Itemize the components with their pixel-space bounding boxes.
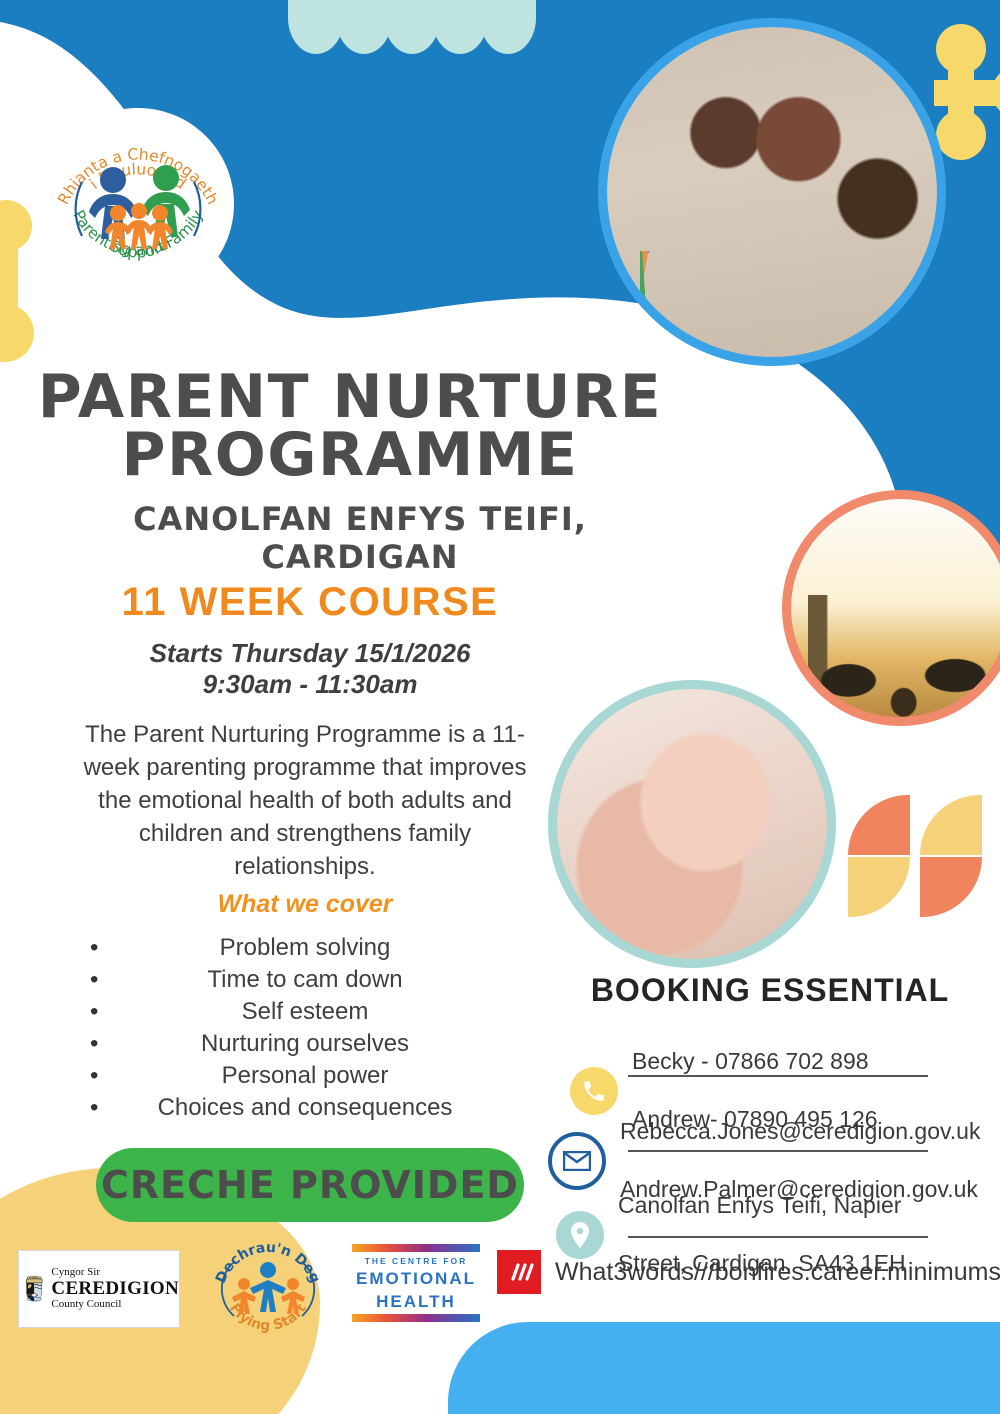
molecule-node xyxy=(936,24,986,74)
what3words-row: What3words///bonfires.career.minimums xyxy=(497,1250,1000,1294)
molecule-link xyxy=(934,80,1000,106)
course-length-label: 11 WEEK COURSE xyxy=(30,580,590,625)
adult-and-baby-hands-photo xyxy=(548,680,836,968)
molecule-node xyxy=(936,110,986,160)
blue-bottom-shape xyxy=(448,1322,1000,1414)
ceh-line-1: THE CENTRE FOR xyxy=(365,1256,468,1266)
photo-image xyxy=(791,499,1000,717)
w3w-divider xyxy=(628,1236,928,1238)
petal-shape xyxy=(480,0,536,54)
parenting-family-support-logo: Rhianta a Chefnogaeth i Deuluoedd Parent… xyxy=(42,108,234,300)
family-holding-hands-sunset-photo xyxy=(782,490,1000,726)
list-item: Choices and consequences xyxy=(70,1092,540,1124)
address-line-1: Canolfan Enfys Teifi, Napier xyxy=(618,1191,906,1220)
molecule-node xyxy=(992,66,1000,118)
svg-text:Flying Start: Flying Start xyxy=(226,1301,310,1335)
page-title: PARENT NURTURE PROGRAMME xyxy=(30,368,670,484)
creche-provided-badge: CRECHE PROVIDED xyxy=(96,1148,524,1222)
phone-line-becky: Becky - 07866 702 898 xyxy=(632,1047,878,1076)
ceh-line-2: EMOTIONAL xyxy=(356,1269,476,1288)
list-item: Time to cam down xyxy=(70,964,540,996)
what-we-cover-list: Problem solving Time to cam down Self es… xyxy=(70,932,540,1124)
booking-essential-title: BOOKING ESSENTIAL xyxy=(560,972,980,1009)
centre-for-emotional-health-logo: THE CENTRE FOR EMOTIONAL HEALTH xyxy=(352,1244,480,1322)
start-date-line: Starts Thursday 15/1/2026 xyxy=(30,638,590,669)
yellow-molecule-shape-right xyxy=(930,18,1000,168)
photo-image xyxy=(607,27,937,357)
list-item: Problem solving xyxy=(70,932,540,964)
council-line-3: County Council xyxy=(51,1299,179,1311)
list-item: Nurturing ourselves xyxy=(70,1028,540,1060)
poster: Rhianta a Chefnogaeth i Deuluoedd Parent… xyxy=(0,0,1000,1414)
what-we-cover-title: What we cover xyxy=(70,890,540,919)
start-date-block: Starts Thursday 15/1/2026 9:30am - 11:30… xyxy=(30,638,590,700)
molecule-node xyxy=(0,304,34,362)
venue-subtitle: CANOLFAN ENFYS TEIFI, CARDIGAN xyxy=(30,500,690,576)
gradient-bar-top xyxy=(352,1244,480,1252)
mother-and-children-drawing-photo xyxy=(598,18,946,366)
council-line-2: CEREDIGION xyxy=(51,1279,179,1299)
gradient-bar-bottom xyxy=(352,1314,480,1322)
quote-quarter-shape xyxy=(848,857,910,917)
quote-quarter-shape xyxy=(920,857,982,917)
email-line-rebecca: Rebecca.Jones@ceredigion.gov.uk xyxy=(620,1117,980,1146)
what3words-address: What3words///bonfires.career.minimums xyxy=(555,1258,1000,1287)
creche-provided-label: CRECHE PROVIDED xyxy=(101,1163,519,1207)
list-item: Self esteem xyxy=(70,996,540,1028)
what3words-slashes-icon xyxy=(497,1250,541,1294)
quote-mark-decoration xyxy=(848,795,988,923)
ceredigion-council-logo: Cyngor Sir CEREDIGION County Council xyxy=(18,1250,180,1328)
ceh-line-3: HEALTH xyxy=(376,1292,456,1311)
quote-quarter-shape xyxy=(848,795,910,855)
photo-image xyxy=(557,689,827,959)
molecule-node xyxy=(0,200,32,252)
flying-start-logo: Dechrau'n Deg Flying Start xyxy=(210,1228,326,1338)
council-logo-text: Cyngor Sir CEREDIGION County Council xyxy=(51,1267,179,1310)
contact-divider xyxy=(628,1075,928,1077)
contact-divider xyxy=(628,1150,928,1152)
quote-quarter-shape xyxy=(920,795,982,855)
list-item: Personal power xyxy=(70,1060,540,1092)
ceredigion-crest-icon xyxy=(25,1260,43,1318)
start-time-line: 9:30am - 11:30am xyxy=(30,669,590,700)
teal-petal-decoration xyxy=(288,0,538,54)
programme-description: The Parent Nurturing Programme is a 11-w… xyxy=(70,718,540,883)
